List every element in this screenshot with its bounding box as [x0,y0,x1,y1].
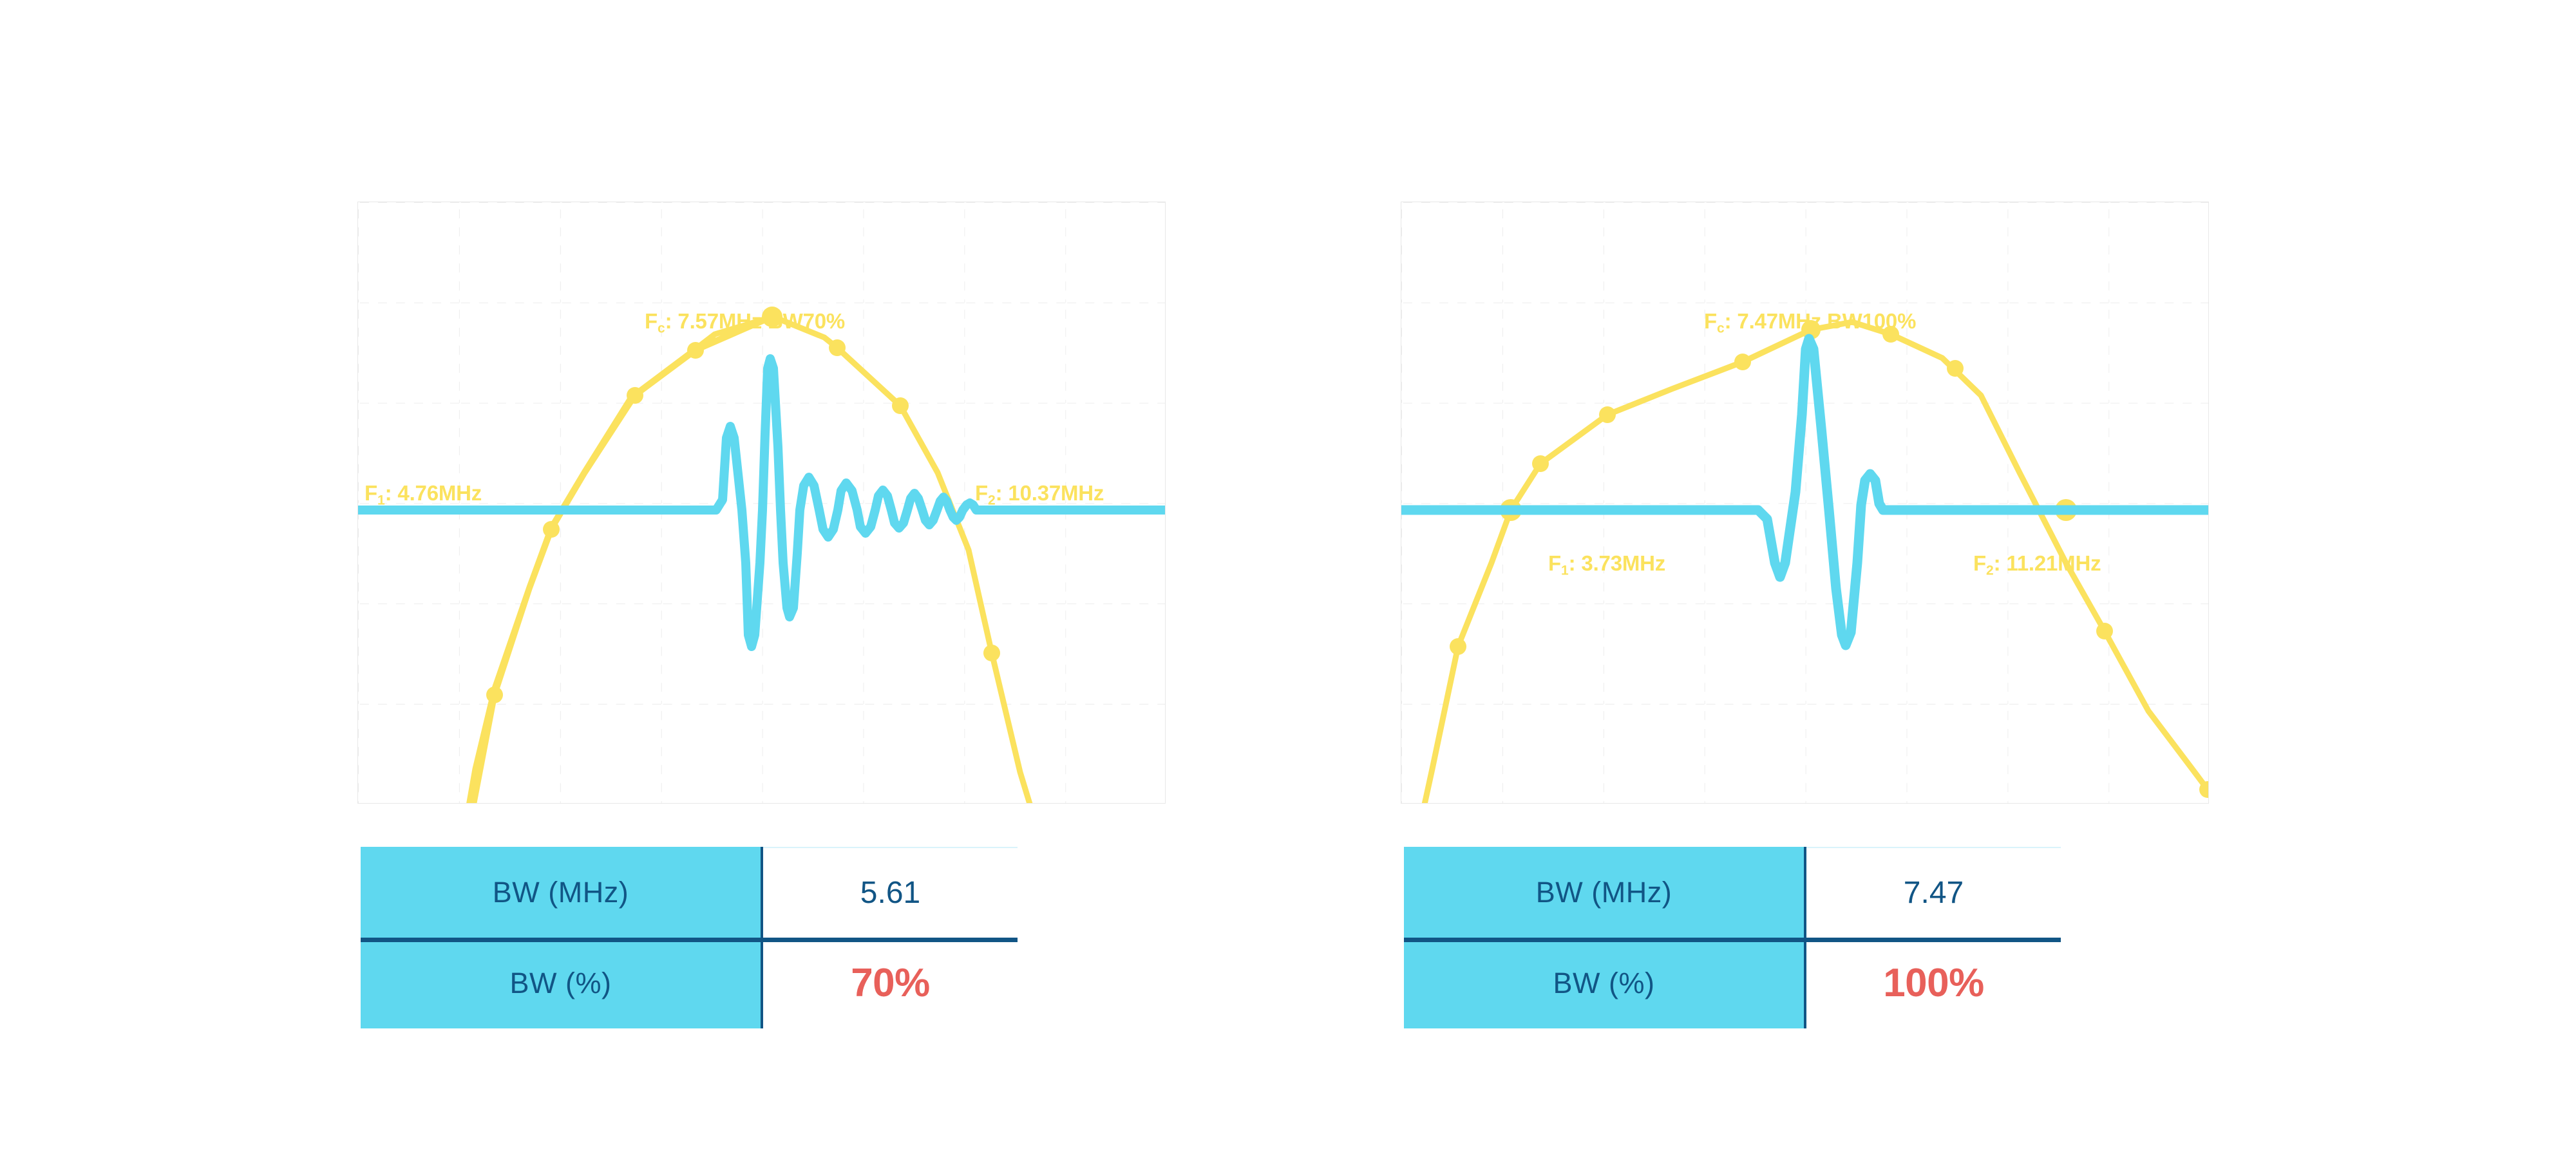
label-fc-prefix: F [1704,309,1717,333]
label-f1-subscript: 1 [377,493,385,507]
label-fc-subscript: c [1717,321,1725,336]
bw-mhz-value: 5.61 [860,875,920,911]
table-row-divider [361,938,1018,942]
table-value-cell: 7.47 [1806,847,2061,938]
table-header-cell: BW (%) [361,938,763,1028]
label-f2-prefix: F [975,481,988,505]
label-f1-prefix: F [365,481,377,505]
label-f1-text: : 4.76MHz [385,481,482,505]
result-table-right: BW (MHz) 7.47 BW (%) 100% [1404,847,2061,1029]
label-fc-text: : 7.57MHz BW70% [665,309,845,333]
label-f2-subscript: 2 [988,493,996,507]
table-value-cell: 100% [1806,938,2061,1028]
bandwidth-chart-right [1401,202,2209,804]
label-f2-text: : 11.21MHz [1994,551,2101,575]
label-f1-text: : 3.73MHz [1569,551,1665,575]
panel-group-left: Fc: 7.57MHz BW70% F1: 4.76MHz F2: 10.37M… [348,0,1185,1154]
label-f2-text: : 10.37MHz [996,481,1104,505]
table-header-cell: BW (%) [1404,938,1806,1028]
table-row-divider [1404,938,2061,942]
chart-gridlines-right [1401,202,2209,804]
label-fc-subscript: c [658,321,665,336]
chart-frame-right: Fc: 7.47MHz BW100% F1: 3.73MHz F2: 11.21… [1401,202,2209,804]
table-row: BW (MHz) 7.47 [1404,847,2061,938]
label-fc-prefix: F [645,309,658,333]
label-f1-prefix: F [1548,551,1561,575]
label-lower-cutoff-right: F1: 3.73MHz [1548,551,1665,578]
label-f2-subscript: 2 [1986,563,1994,578]
table-value-cell: 5.61 [763,847,1018,938]
table-row: BW (%) 100% [1404,938,2061,1028]
panel-group-right: Fc: 7.47MHz BW100% F1: 3.73MHz F2: 11.21… [1391,0,2228,1154]
label-lower-cutoff-left: F1: 4.76MHz [365,481,482,508]
table-header-cell: BW (MHz) [361,847,763,938]
label-f2-prefix: F [1973,551,1986,575]
bw-percent-value: 100% [1883,960,1984,1006]
label-fc-text: : 7.47MHz BW100% [1725,309,1917,333]
figure-canvas: Fc: 7.57MHz BW70% F1: 4.76MHz F2: 10.37M… [0,0,2576,1154]
label-upper-cutoff-left: F2: 10.37MHz [975,481,1104,508]
table-value-cell: 70% [763,938,1018,1028]
bw-mhz-value: 7.47 [1904,875,1964,911]
table-row: BW (MHz) 5.61 [361,847,1018,938]
result-table-left: BW (MHz) 5.61 BW (%) 70% [361,847,1018,1029]
table-header-cell: BW (MHz) [1404,847,1806,938]
label-center-frequency-right: Fc: 7.47MHz BW100% [1704,309,1916,336]
label-upper-cutoff-right: F2: 11.21MHz [1973,551,2101,578]
label-center-frequency-left: Fc: 7.57MHz BW70% [645,309,845,336]
label-f1-subscript: 1 [1561,563,1569,578]
table-row: BW (%) 70% [361,938,1018,1028]
chart-frame-left: Fc: 7.57MHz BW70% F1: 4.76MHz F2: 10.37M… [357,202,1166,804]
bw-percent-value: 70% [851,960,930,1006]
